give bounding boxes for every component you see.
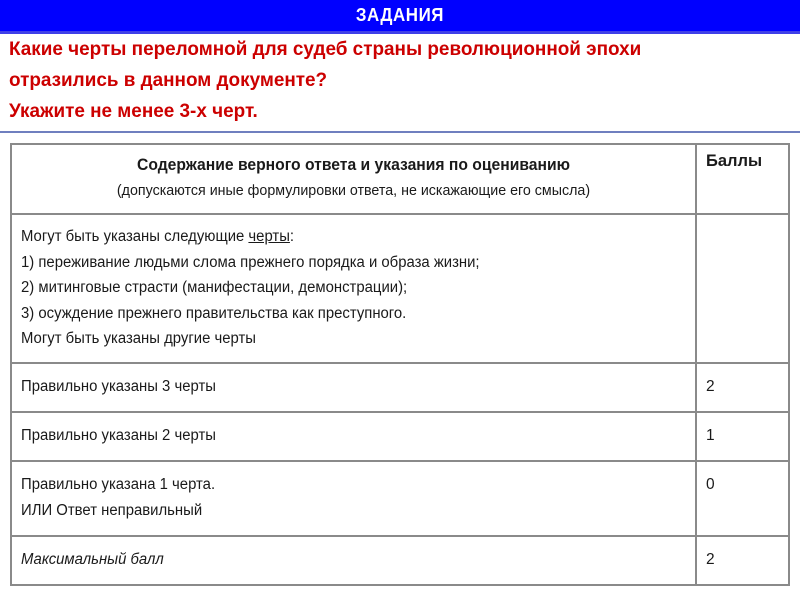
criteria-cell-max-score: Максимальный балл (11, 536, 696, 585)
header-criteria-main: Содержание верного ответа и указания по … (35, 152, 672, 178)
header-cell-criteria: Содержание верного ответа и указания по … (11, 144, 696, 214)
table-header-row: Содержание верного ответа и указания по … (11, 144, 789, 214)
answer-content-score-cell (696, 214, 789, 363)
score-cell-1-trait: 0 (696, 461, 789, 536)
header-criteria-sub: (допускаются иные формулировки ответа, н… (35, 178, 672, 204)
page-title: ЗАДАНИЯ (356, 5, 444, 26)
score-cell-max-score: 2 (696, 536, 789, 585)
score-value: 0 (706, 476, 715, 493)
score-value: 2 (706, 551, 715, 568)
criteria-text: Правильно указаны 3 черты (21, 374, 660, 400)
answer-intro-line: Могут быть указаны следующие черты: (21, 224, 660, 250)
table-row: Правильно указана 1 черта. ИЛИ Ответ неп… (11, 461, 789, 536)
question-line-2: отразились в данном документе? (9, 65, 771, 96)
criteria-text: Правильно указаны 2 черты (21, 423, 660, 449)
criteria-table: Содержание верного ответа и указания по … (10, 143, 790, 586)
criteria-cell-3-traits: Правильно указаны 3 черты (11, 363, 696, 412)
answer-closing-line: Могут быть указаны другие черты (21, 326, 660, 352)
table-row-answer-content: Могут быть указаны следующие черты: 1) п… (11, 214, 789, 363)
answer-intro-underlined: черты (248, 228, 289, 245)
table-row: Правильно указаны 2 черты 1 (11, 412, 789, 461)
horizontal-rule (0, 131, 800, 133)
score-cell-2-traits: 1 (696, 412, 789, 461)
criteria-cell-1-trait: Правильно указана 1 черта. ИЛИ Ответ неп… (11, 461, 696, 536)
question-line-1: Какие черты переломной для судеб страны … (9, 34, 771, 65)
question-line-3: Укажите не менее 3-х черт. (9, 96, 771, 127)
criteria-table-container: Содержание верного ответа и указания по … (10, 143, 788, 586)
answer-item-2: 2) митинговые страсти (манифестации, дем… (21, 275, 660, 301)
score-value: 1 (706, 427, 715, 444)
table-row: Правильно указаны 3 черты 2 (11, 363, 789, 412)
answer-item-3: 3) осуждение прежнего правительства как … (21, 301, 660, 327)
header-score-label: Баллы (706, 152, 762, 170)
page-banner: ЗАДАНИЯ (0, 0, 800, 31)
criteria-cell-2-traits: Правильно указаны 2 черты (11, 412, 696, 461)
criteria-text: Максимальный балл (21, 547, 660, 573)
answer-intro-before: Могут быть указаны следующие (21, 228, 248, 245)
answer-item-1: 1) переживание людьми слома прежнего пор… (21, 250, 660, 276)
question-block: Какие черты переломной для судеб страны … (9, 34, 795, 127)
answer-intro-after: : (290, 228, 294, 245)
answer-content-cell: Могут быть указаны следующие черты: 1) п… (11, 214, 696, 363)
criteria-text-line-1: Правильно указана 1 черта. (21, 472, 660, 498)
criteria-text-line-2: ИЛИ Ответ неправильный (21, 498, 660, 524)
score-value: 2 (706, 378, 715, 395)
header-cell-score: Баллы (696, 144, 789, 214)
score-cell-3-traits: 2 (696, 363, 789, 412)
table-row: Максимальный балл 2 (11, 536, 789, 585)
